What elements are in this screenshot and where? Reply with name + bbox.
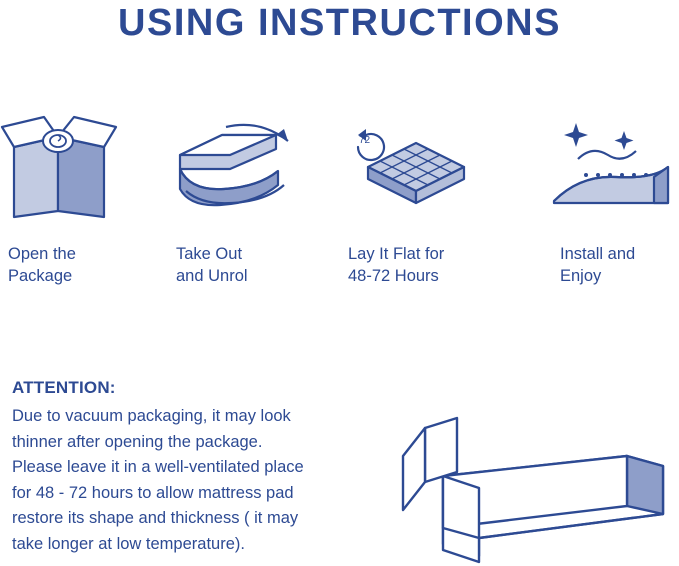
step-4: Install and Enjoy [548, 105, 679, 305]
attention-line-2: thinner after opening the package. [12, 430, 392, 456]
step-1-label: Open the Package [8, 243, 168, 287]
step-4-label-line1: Install and [560, 243, 679, 265]
step-3-label: Lay It Flat for 48-72 Hours [348, 243, 508, 287]
attention-block: ATTENTION: Due to vacuum packaging, it m… [12, 378, 392, 557]
step-3-label-line1: Lay It Flat for [348, 243, 508, 265]
open-box-with-mattress-icon [395, 410, 675, 566]
sparkle-mattress-icon [548, 105, 679, 230]
open-box-icon [0, 105, 160, 230]
step-1: Open the Package [0, 105, 160, 305]
attention-line-5: restore its shape and thickness ( it may [12, 506, 392, 532]
instruction-poster: USING INSTRUCTIONS [0, 0, 679, 566]
step-3: 72 Lay It Flat [338, 105, 498, 305]
step-4-label: Install and Enjoy [560, 243, 679, 287]
step-2: Take Out and Unrol [164, 105, 324, 305]
step-2-label-line1: Take Out [176, 243, 336, 265]
step-4-label-line2: Enjoy [560, 265, 679, 287]
step-2-label: Take Out and Unrol [176, 243, 336, 287]
attention-title: ATTENTION: [12, 378, 392, 398]
flat-mattress-timer-icon: 72 [338, 105, 498, 230]
page-title: USING INSTRUCTIONS [0, 2, 679, 45]
attention-line-3: Please leave it in a well-ventilated pla… [12, 455, 392, 481]
step-1-label-line1: Open the [8, 243, 168, 265]
attention-text: Due to vacuum packaging, it may look thi… [12, 404, 392, 557]
svg-text:72: 72 [359, 135, 371, 146]
attention-line-6: take longer at low temperature). [12, 532, 392, 558]
attention-line-1: Due to vacuum packaging, it may look [12, 404, 392, 430]
steps-row: Open the Package [0, 105, 679, 305]
unroll-mattress-icon [164, 105, 324, 230]
step-1-label-line2: Package [8, 265, 168, 287]
step-3-label-line2: 48-72 Hours [348, 265, 508, 287]
attention-line-4: for 48 - 72 hours to allow mattress pad [12, 481, 392, 507]
step-2-label-line2: and Unrol [176, 265, 336, 287]
